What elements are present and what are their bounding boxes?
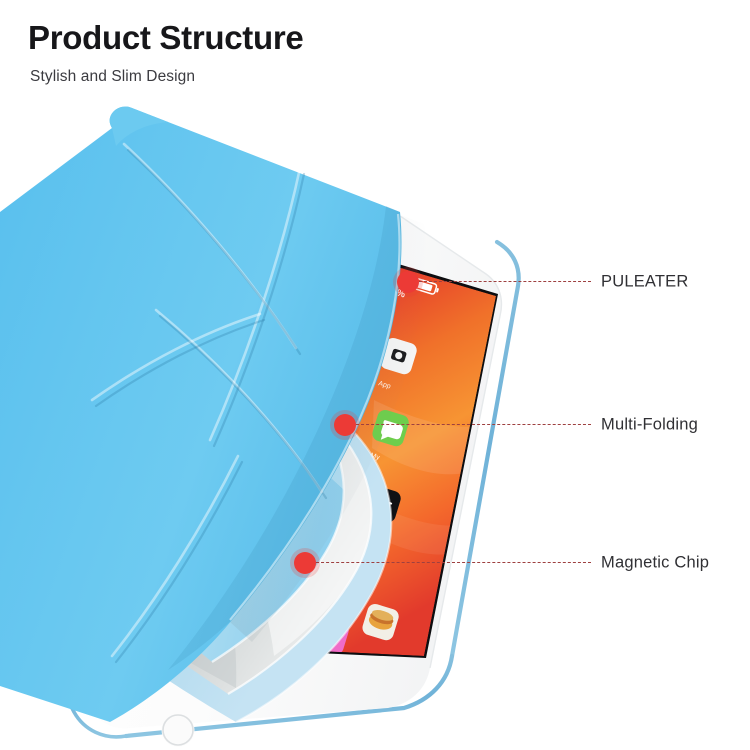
product-photo: 63% [0, 100, 580, 750]
callout-line-magnetic-chip [316, 562, 591, 563]
callout-label-puleater: PULEATER [601, 273, 688, 292]
callout-label-magnetic-chip: Magnetic Chip [601, 554, 709, 573]
callout-dot-multi-folding[interactable] [334, 414, 356, 436]
callout-dot-magnetic-chip[interactable] [294, 552, 316, 574]
page-title: Product Structure [28, 20, 628, 56]
callout-dot-puleater[interactable] [397, 271, 419, 293]
header: Product Structure Stylish and Slim Desig… [28, 20, 628, 86]
product-infographic: Product Structure Stylish and Slim Desig… [0, 0, 750, 750]
page-subtitle: Stylish and Slim Design [30, 68, 628, 86]
callout-label-multi-folding: Multi-Folding [601, 416, 698, 435]
callout-line-multi-folding [356, 424, 591, 425]
callout-line-puleater [419, 281, 591, 282]
home-button[interactable] [162, 714, 195, 747]
